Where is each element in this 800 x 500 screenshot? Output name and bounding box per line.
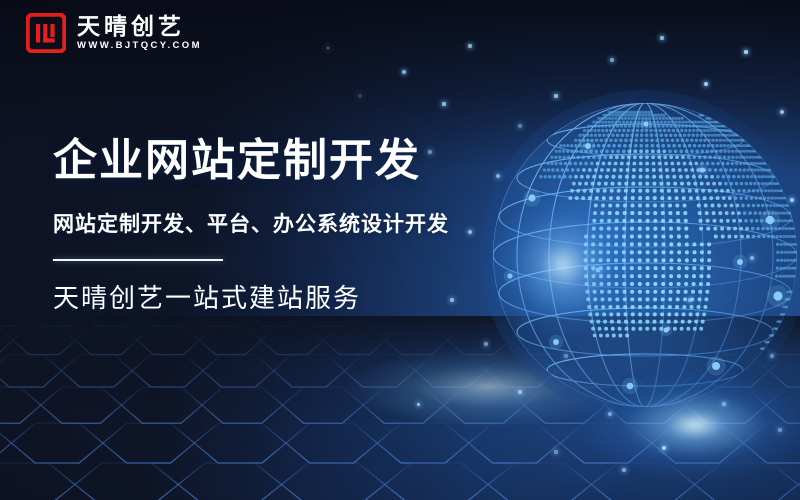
hero-copy: 企业网站定制开发 网站定制开发、平台、办公系统设计开发 天晴创艺一站式建站服务 <box>53 136 523 315</box>
brand-logo[interactable]: 天晴创艺 WWW.BJTQCY.COM <box>26 13 202 53</box>
hero-banner: 天晴创艺 WWW.BJTQCY.COM 企业网站定制开发 网站定制开发、平台、办… <box>0 0 800 500</box>
hero-divider <box>53 259 223 261</box>
hero-tagline: 天晴创艺一站式建站服务 <box>53 283 523 314</box>
tqcy-square-logo-icon <box>26 13 66 53</box>
hero-headline: 企业网站定制开发 <box>53 136 523 186</box>
hero-subhead: 网站定制开发、平台、办公系统设计开发 <box>53 212 523 237</box>
brand-website: WWW.BJTQCY.COM <box>77 41 202 51</box>
brand-name: 天晴创艺 <box>77 15 202 38</box>
